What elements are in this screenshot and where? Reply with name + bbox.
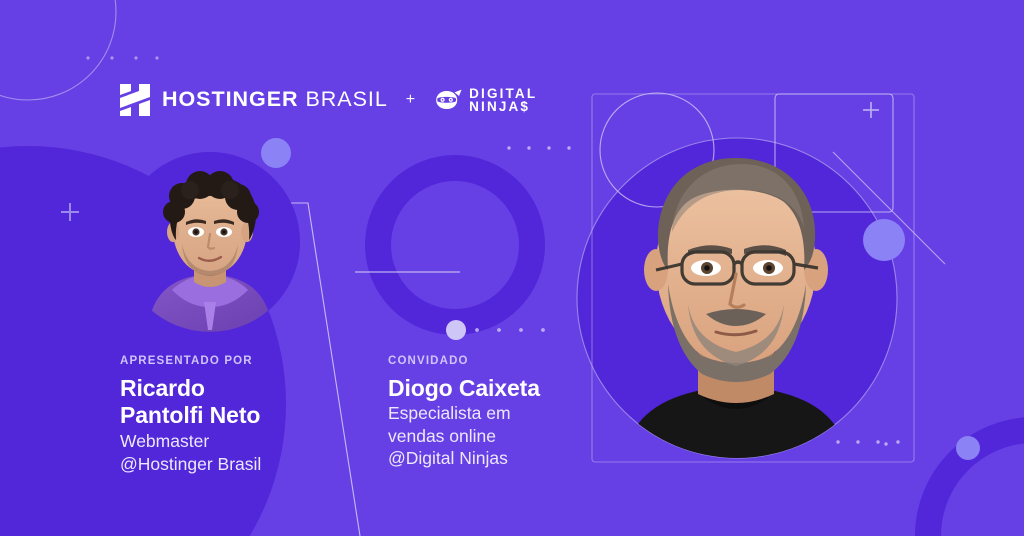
guest-role-line1: Especialista em <box>388 402 598 424</box>
digital-ninjas-wordmark: DIGITAL NINJA$ <box>469 87 537 114</box>
logo-bar: HOSTINGER BRASIL + DIGITAL NINJA$ <box>120 78 537 122</box>
digital-ninjas-logo[interactable]: DIGITAL NINJA$ <box>433 87 537 114</box>
avatar-ricardo-pantolfi-neto <box>120 152 300 332</box>
avatar-diogo-caixeta <box>592 98 880 470</box>
presenter-name-line1: Ricardo <box>120 375 370 402</box>
ninjas-word-line1: DIGITAL <box>469 87 537 101</box>
decor-dots-topleft <box>86 56 158 59</box>
presenter-kicker: APRESENTADO POR <box>120 356 370 368</box>
decor-ring-center <box>378 168 532 322</box>
promo-banner: HOSTINGER BRASIL + DIGITAL NINJA$ <box>0 0 1024 536</box>
ninjas-word-line2: NINJA$ <box>469 100 537 114</box>
hostinger-h-mark <box>120 84 150 116</box>
hostinger-logo[interactable]: HOSTINGER BRASIL <box>120 84 388 116</box>
guest-role-line2: vendas online <box>388 425 598 447</box>
decor-dot-right-frame <box>884 442 887 445</box>
decor-dot-periwinkle-left <box>261 138 291 168</box>
speaker-block-presenter: APRESENTADO POR Ricardo Pantolfi Neto We… <box>120 356 370 475</box>
decor-dot-periwinkle-bottomright <box>956 436 980 460</box>
hostinger-wordmark: HOSTINGER BRASIL <box>162 89 388 111</box>
decor-dot-large-center <box>446 320 466 340</box>
hostinger-word-bold: HOSTINGER <box>162 87 299 111</box>
decor-outline-circle-topleft <box>0 0 116 100</box>
logo-join-symbol: + <box>404 91 417 109</box>
guest-handle: @Digital Ninjas <box>388 447 598 469</box>
speaker-block-guest: CONVIDADO Diogo Caixeta Especialista em … <box>388 356 598 469</box>
ninja-face-mark <box>433 89 462 111</box>
guest-kicker: CONVIDADO <box>388 356 598 368</box>
presenter-role: Webmaster <box>120 430 370 452</box>
decor-dots-center-top <box>507 146 570 149</box>
presenter-name-line2: Pantolfi Neto <box>120 402 370 429</box>
presenter-handle: @Hostinger Brasil <box>120 453 370 475</box>
hostinger-word-light: BRASIL <box>305 87 387 111</box>
guest-name-line1: Diogo Caixeta <box>388 375 598 402</box>
